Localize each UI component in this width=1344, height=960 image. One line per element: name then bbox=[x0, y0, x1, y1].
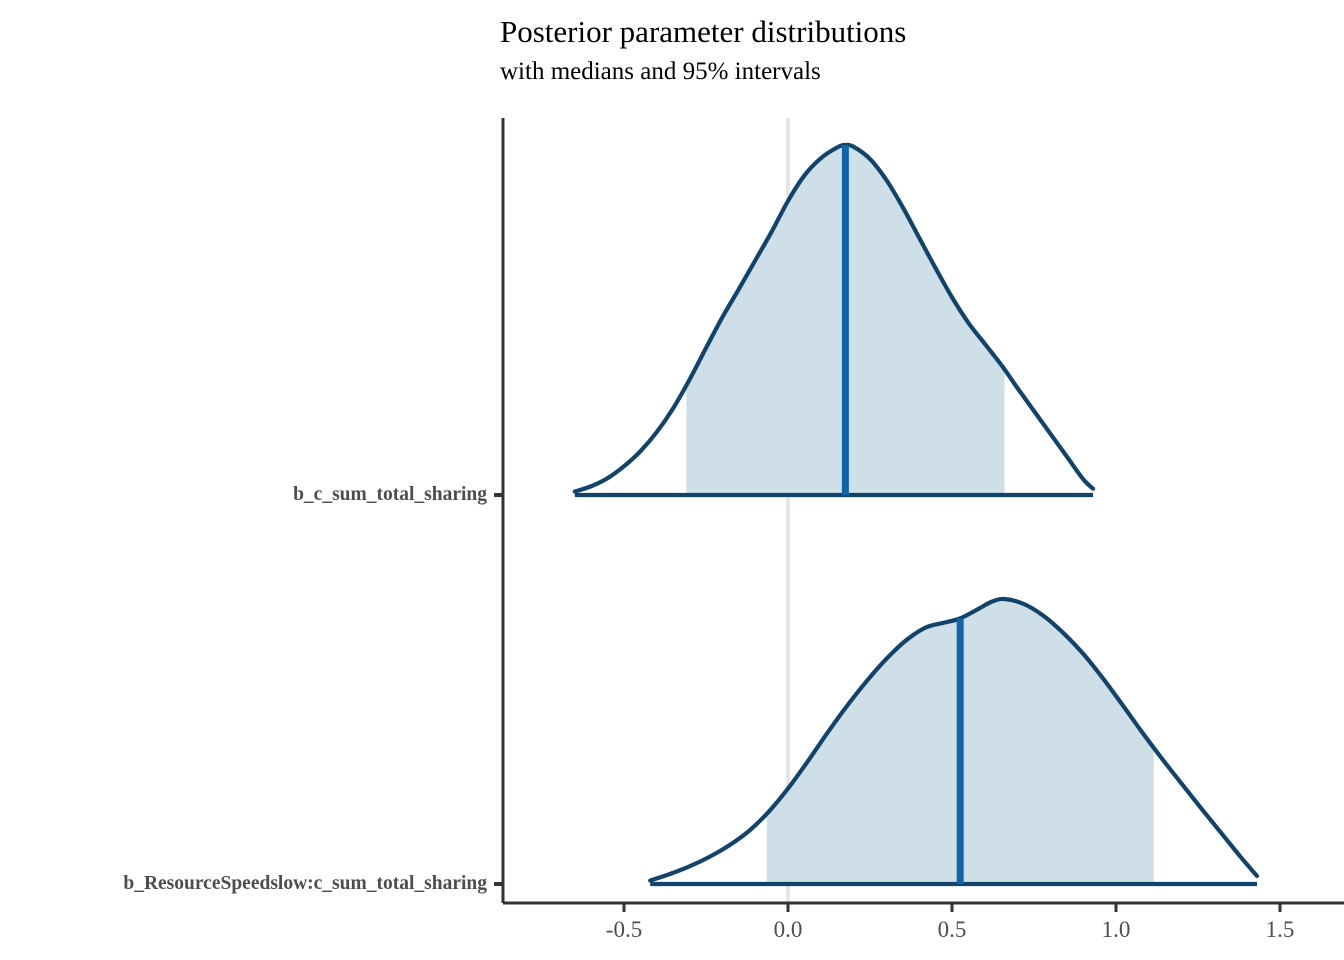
credible-interval-band bbox=[650, 599, 1257, 884]
credible-interval-band bbox=[575, 145, 1093, 495]
x-axis-tick-label: 0.0 bbox=[774, 917, 803, 943]
x-axis-tick-label: 1.0 bbox=[1102, 917, 1131, 943]
y-axis-tick-label: b_c_sum_total_sharing bbox=[0, 484, 487, 506]
density-ridge bbox=[575, 145, 1093, 495]
y-axis-tick-label: b_ResourceSpeedslow:c_sum_total_sharing bbox=[0, 873, 487, 895]
x-axis-tick-label: 1.5 bbox=[1266, 917, 1295, 943]
posterior-distribution-chart: Posterior parameter distributions with m… bbox=[0, 0, 1344, 960]
plot-area bbox=[0, 0, 1344, 960]
x-axis-tick-label: 0.5 bbox=[938, 917, 967, 943]
x-axis-tick-label: -0.5 bbox=[606, 917, 642, 943]
density-ridge bbox=[650, 599, 1257, 884]
